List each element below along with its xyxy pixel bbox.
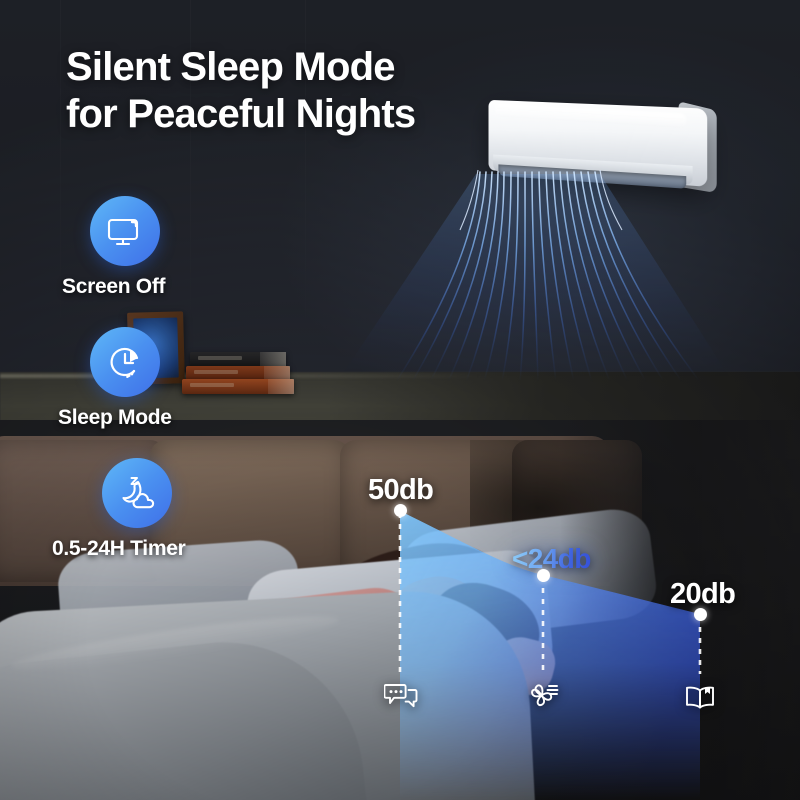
moon-cloud-zzz-icon	[102, 458, 172, 528]
clock-refresh-icon	[90, 327, 160, 397]
feature-item-sleep-mode: Sleep Mode	[58, 327, 318, 430]
headline-line-2: for Peaceful Nights	[66, 91, 536, 138]
headline-line-1: Silent Sleep Mode	[66, 45, 395, 89]
feature-item-screen-off: Screen Off	[58, 196, 318, 299]
feature-label: Screen Off	[62, 275, 318, 299]
monitor-screen-icon	[90, 196, 160, 266]
feature-list: Screen Off Sleep Mode	[58, 196, 318, 589]
feature-label: 0.5-24H Timer	[52, 537, 318, 561]
feature-label: Sleep Mode	[58, 406, 318, 430]
page-title: Silent Sleep Mode for Peaceful Nights	[66, 44, 536, 138]
feature-item-timer: 0.5-24H Timer	[58, 458, 318, 561]
product-feature-image: Silent Sleep Mode for Peaceful Nights Sc…	[0, 0, 800, 800]
